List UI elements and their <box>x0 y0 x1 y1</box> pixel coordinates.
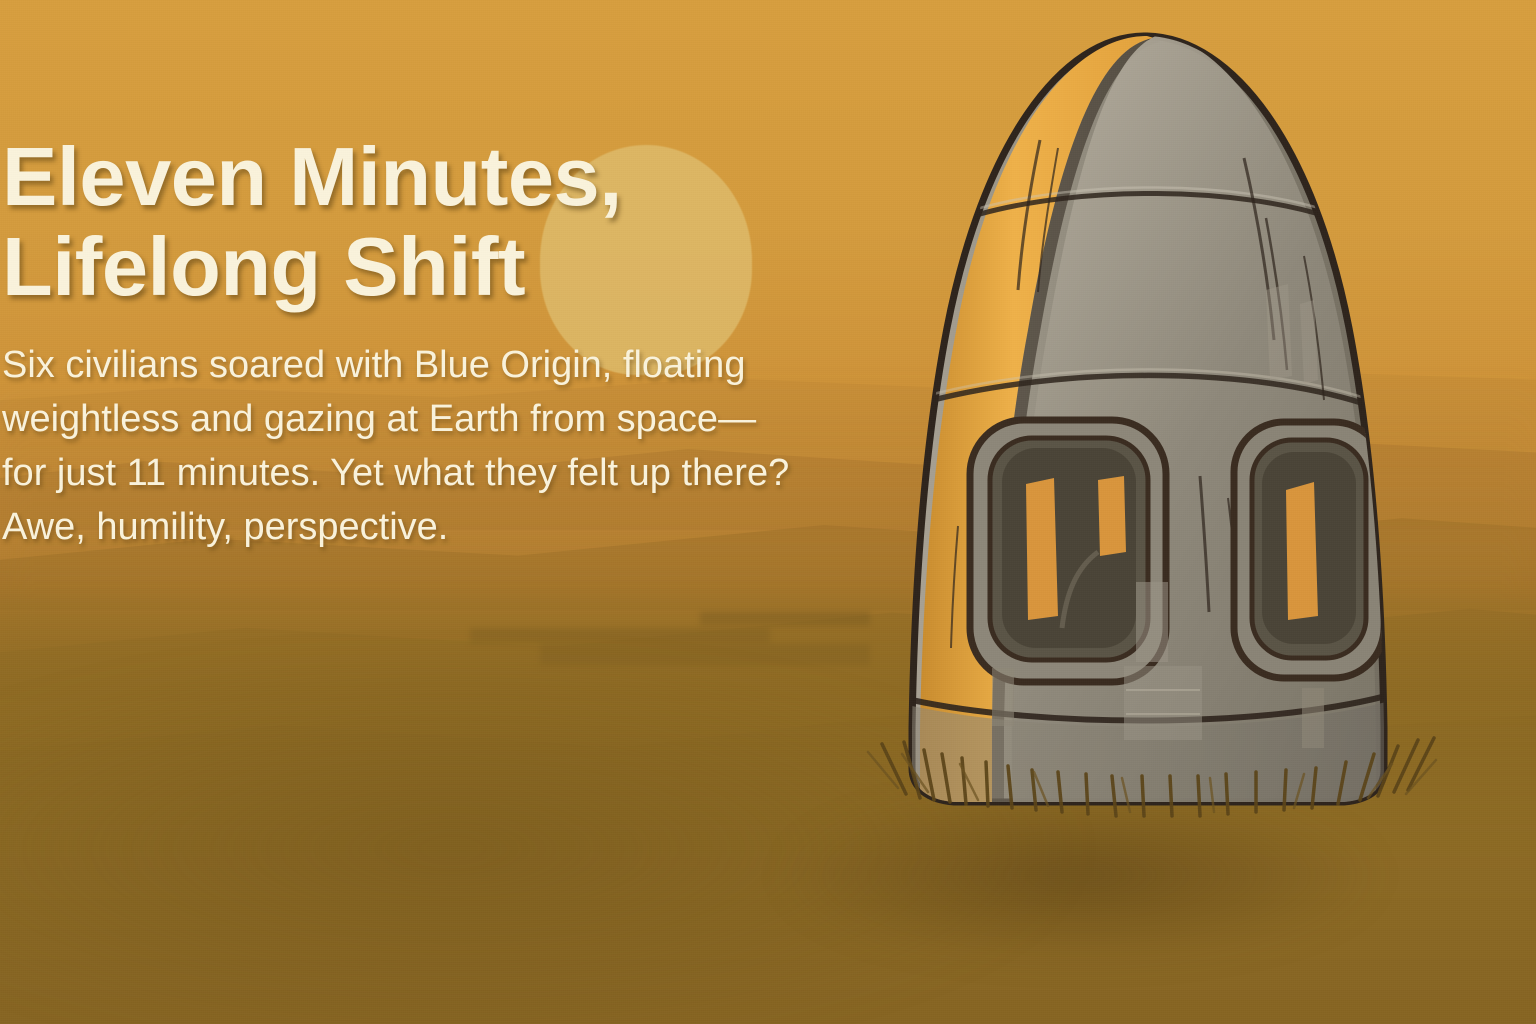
capsule-vent-plate <box>1136 582 1168 662</box>
window-right <box>1234 422 1384 678</box>
hero-illustration-card: Eleven Minutes, Lifelong Shift Six civil… <box>0 0 1536 1024</box>
space-capsule-illustration <box>862 28 1432 838</box>
capsule-hull <box>912 34 1386 806</box>
window-left-reflection-main <box>1026 478 1058 620</box>
page-title: Eleven Minutes, Lifelong Shift <box>0 132 860 311</box>
window-right-reflection <box>1286 482 1318 620</box>
subheadline: Six civilians soared with Blue Origin, f… <box>0 339 860 555</box>
window-left-reflection-small <box>1098 476 1126 556</box>
text-block: Eleven Minutes, Lifelong Shift Six civil… <box>0 132 860 555</box>
capsule-hatch-plate <box>1124 666 1202 740</box>
